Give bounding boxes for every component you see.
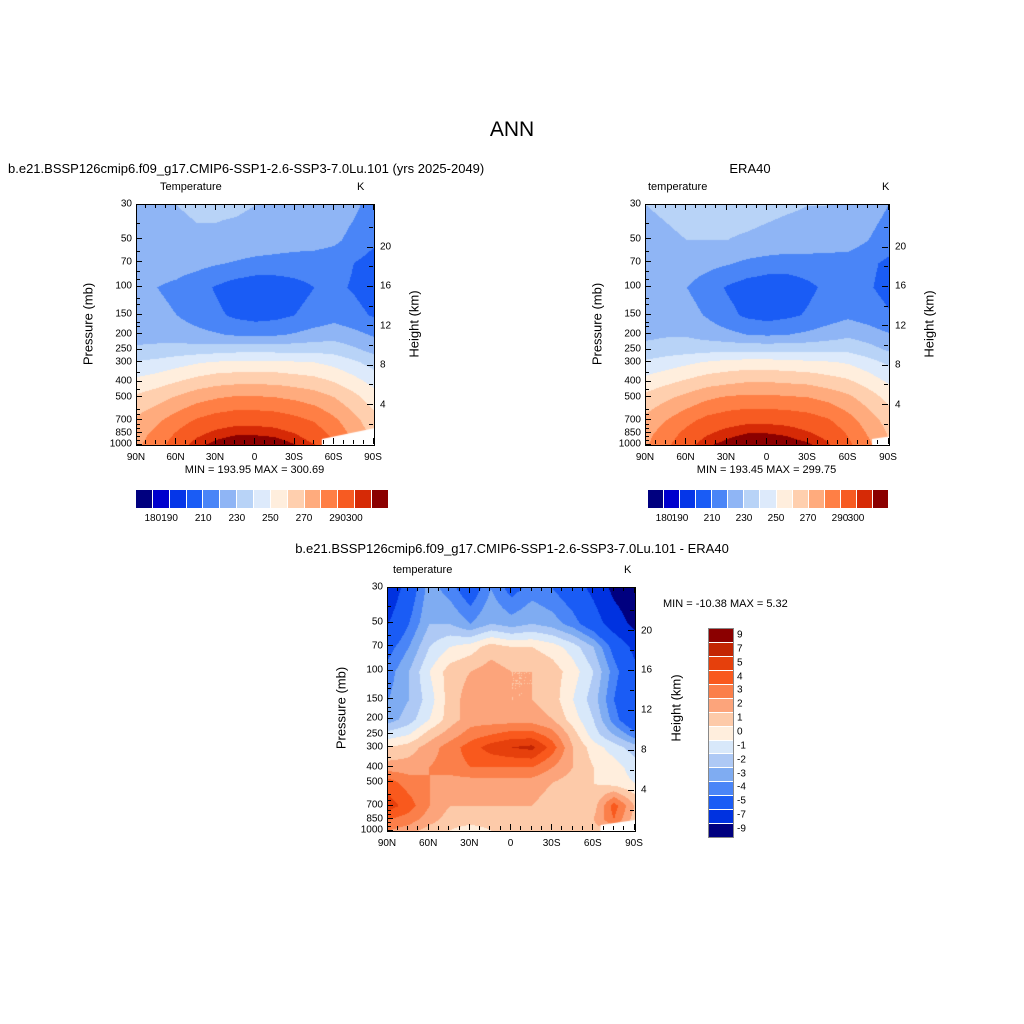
x-tickmark-minor-bottom xyxy=(274,440,275,444)
y-tick-label-30: 30 xyxy=(102,199,132,210)
y-tickmark-major xyxy=(387,830,393,831)
y-tickmark-major xyxy=(645,261,651,262)
y-tick-label-100: 100 xyxy=(102,281,132,292)
panel-obs-title: ERA40 xyxy=(650,161,850,176)
x-tickmark-minor-top xyxy=(274,204,275,208)
x-tickmark-minor-bottom xyxy=(323,440,324,444)
x-tickmark-major-bottom xyxy=(175,438,176,444)
x-tickmark-minor-top xyxy=(205,204,206,208)
y-tickmark-minor xyxy=(387,810,391,811)
y-tick-label-300: 300 xyxy=(102,356,132,367)
x-tick-label-90S: 90S xyxy=(353,452,393,463)
x-tick-label-60N: 60N xyxy=(666,452,706,463)
height-tick-label-12: 12 xyxy=(380,320,404,331)
height-tickmark-minor xyxy=(884,227,888,228)
y-tick-label-70: 70 xyxy=(353,640,383,651)
colorbar-swatch xyxy=(153,490,170,508)
y-tickmark-major xyxy=(645,333,651,334)
colorbar-swatch xyxy=(712,490,728,508)
colorbar-swatch xyxy=(709,754,733,768)
x-tickmark-minor-top xyxy=(313,204,314,208)
x-tickmark-minor-top xyxy=(234,204,235,208)
y-tickmark-minor xyxy=(387,683,391,684)
y-tickmark-major xyxy=(136,381,142,382)
y-tick-label-300: 300 xyxy=(611,356,641,367)
y-tick-label-250: 250 xyxy=(611,344,641,355)
colorbar-swatch xyxy=(857,490,873,508)
x-tickmark-minor-top xyxy=(715,204,716,208)
y-tickmark-major xyxy=(136,238,142,239)
x-tickmark-minor-top xyxy=(867,204,868,208)
y-tick-label-100: 100 xyxy=(611,281,641,292)
x-tickmark-minor-bottom xyxy=(827,440,828,444)
colorbar-swatch xyxy=(271,490,288,508)
height-tick-label-16: 16 xyxy=(641,665,665,676)
x-tickmark-major-top xyxy=(645,204,646,210)
x-tickmark-minor-top xyxy=(827,204,828,208)
y-tickmark-minor xyxy=(645,414,649,415)
colorbar-tick-label: -3 xyxy=(737,768,763,779)
x-tickmark-minor-top xyxy=(736,204,737,208)
y-tickmark-major xyxy=(645,349,651,350)
x-tick-label-60S: 60S xyxy=(573,838,613,849)
x-tickmark-minor-bottom xyxy=(786,440,787,444)
x-tickmark-minor-top xyxy=(155,204,156,208)
x-tickmark-major-top xyxy=(807,204,808,210)
y-tick-label-1000: 1000 xyxy=(611,439,641,450)
height-tickmark xyxy=(628,710,634,711)
height-tick-label-8: 8 xyxy=(641,745,665,756)
x-tickmark-major-bottom xyxy=(645,438,646,444)
x-tickmark-minor-bottom xyxy=(145,440,146,444)
height-tickmark xyxy=(628,790,634,791)
x-tickmark-minor-bottom xyxy=(837,440,838,444)
x-tickmark-minor-bottom xyxy=(561,826,562,830)
height-tickmark-minor xyxy=(884,384,888,385)
y-tickmark-major xyxy=(387,622,393,623)
x-tickmark-minor-top xyxy=(500,587,501,591)
x-tickmark-major-top xyxy=(726,204,727,210)
x-tickmark-minor-top xyxy=(623,587,624,591)
colorbar-swatch xyxy=(664,490,680,508)
x-tickmark-major-bottom xyxy=(428,824,429,830)
colorbar-tick-label: -4 xyxy=(737,782,763,793)
x-tickmark-minor-bottom xyxy=(438,826,439,830)
y-tickmark-major xyxy=(387,670,393,671)
y-tickmark-minor xyxy=(645,428,649,429)
y-tick-label-250: 250 xyxy=(102,344,132,355)
x-tickmark-minor-bottom xyxy=(715,440,716,444)
x-tick-label-30N: 30N xyxy=(449,838,489,849)
colorbar-tick-label: 3 xyxy=(737,685,763,696)
y-tickmark-minor xyxy=(387,654,391,655)
height-tick-label-16: 16 xyxy=(380,281,404,292)
y-tick-label-500: 500 xyxy=(611,391,641,402)
x-tickmark-minor-top xyxy=(817,204,818,208)
x-tickmark-minor-bottom xyxy=(479,826,480,830)
x-tickmark-major-bottom xyxy=(888,438,889,444)
height-tickmark xyxy=(882,365,888,366)
y-tickmark-major xyxy=(136,261,142,262)
x-tickmark-minor-bottom xyxy=(284,440,285,444)
y-tick-label-250: 250 xyxy=(353,728,383,739)
x-tickmark-minor-top xyxy=(786,204,787,208)
x-tickmark-minor-bottom xyxy=(603,826,604,830)
y-tickmark-major xyxy=(387,733,393,734)
x-tick-label-60S: 60S xyxy=(314,452,354,463)
colorbar-swatch xyxy=(709,782,733,796)
y-tickmark-major xyxy=(645,396,651,397)
x-tickmark-minor-bottom xyxy=(205,440,206,444)
y-tickmark-minor xyxy=(136,424,140,425)
height-tickmark-minor xyxy=(369,384,373,385)
x-tickmark-major-top xyxy=(469,587,470,593)
y-tickmark-major xyxy=(387,766,393,767)
height-tick-label-4: 4 xyxy=(895,399,919,410)
y-tickmark-major xyxy=(645,444,651,445)
y-tickmark-major xyxy=(387,746,393,747)
x-tickmark-minor-top xyxy=(145,204,146,208)
x-tickmark-minor-bottom xyxy=(541,826,542,830)
y-tickmark-major xyxy=(387,698,393,699)
height-tickmark xyxy=(367,365,373,366)
x-tickmark-major-bottom xyxy=(634,824,635,830)
x-tickmark-major-bottom xyxy=(215,438,216,444)
height-tickmark xyxy=(367,404,373,405)
colorbar-swatch xyxy=(338,490,355,508)
height-tickmark-minor xyxy=(369,424,373,425)
colorbar-swatch xyxy=(355,490,372,508)
x-tickmark-minor-bottom xyxy=(877,440,878,444)
y-tickmark-minor xyxy=(136,251,140,252)
y-tickmark-major xyxy=(136,396,142,397)
colorbar-swatch xyxy=(680,490,696,508)
colorbar-swatch xyxy=(709,810,733,824)
y-tickmark-minor xyxy=(136,223,140,224)
x-tickmark-minor-top xyxy=(165,204,166,208)
height-tick-label-20: 20 xyxy=(380,242,404,253)
panel-model-units-label: K xyxy=(357,181,364,193)
x-tick-label-30S: 30S xyxy=(274,452,314,463)
panel-model-contour-canvas xyxy=(137,205,374,445)
panel-diff-units-label: K xyxy=(624,564,631,576)
panel-model-plot[interactable] xyxy=(136,204,375,446)
x-tickmark-minor-bottom xyxy=(695,440,696,444)
y-tickmark-minor xyxy=(387,794,391,795)
x-tickmark-minor-bottom xyxy=(736,440,737,444)
height-tick-label-20: 20 xyxy=(895,242,919,253)
height-tickmark-minor xyxy=(630,650,634,651)
colorbar-swatch xyxy=(841,490,857,508)
x-tickmark-minor-top xyxy=(489,587,490,591)
y-tickmark-minor xyxy=(136,440,140,441)
y-tick-label-850: 850 xyxy=(102,427,132,438)
colorbar-swatch xyxy=(648,490,664,508)
x-tickmark-major-top xyxy=(766,204,767,210)
colorbar-tick-label: -9 xyxy=(737,824,763,835)
y-tickmark-minor xyxy=(387,711,391,712)
x-tickmark-minor-top xyxy=(417,587,418,591)
colorbar-tick-label: 300 xyxy=(836,513,876,524)
y-tick-label-200: 200 xyxy=(611,328,641,339)
x-tickmark-major-top xyxy=(685,204,686,210)
y-tick-label-500: 500 xyxy=(102,391,132,402)
y-tickmark-major xyxy=(136,432,142,433)
page-title: ANN xyxy=(0,118,1024,142)
y-tickmark-major xyxy=(387,718,393,719)
x-tickmark-minor-bottom xyxy=(363,440,364,444)
y-tick-label-300: 300 xyxy=(353,741,383,752)
colorbar-swatch xyxy=(709,685,733,699)
x-tickmark-minor-top xyxy=(303,204,304,208)
colorbar-swatch xyxy=(170,490,187,508)
x-tickmark-minor-top xyxy=(438,587,439,591)
x-tickmark-minor-bottom xyxy=(165,440,166,444)
x-tickmark-minor-top xyxy=(665,204,666,208)
x-tickmark-major-top xyxy=(373,204,374,210)
y-tick-label-30: 30 xyxy=(353,582,383,593)
x-tickmark-minor-bottom xyxy=(234,440,235,444)
y-tickmark-major xyxy=(136,361,142,362)
x-tickmark-minor-bottom xyxy=(459,826,460,830)
panel-diff-ylabel-right: Height (km) xyxy=(669,674,684,741)
height-tickmark xyxy=(367,247,373,248)
colorbar-tick-label: 9 xyxy=(737,629,763,640)
y-tickmark-minor xyxy=(387,800,391,801)
colorbar-difference[interactable] xyxy=(708,628,734,838)
colorbar-swatch xyxy=(305,490,322,508)
x-tickmark-minor-top xyxy=(603,587,604,591)
y-tickmark-minor xyxy=(136,372,140,373)
colorbar-absolute-obs[interactable] xyxy=(648,490,888,508)
height-tickmark xyxy=(882,247,888,248)
colorbar-tick-label: 5 xyxy=(737,657,763,668)
y-tickmark-minor xyxy=(645,372,649,373)
x-tickmark-minor-bottom xyxy=(582,826,583,830)
panel-model-var-label: Temperature xyxy=(160,181,222,193)
height-tick-label-20: 20 xyxy=(641,625,665,636)
x-tickmark-minor-top xyxy=(837,204,838,208)
x-tick-label-60S: 60S xyxy=(828,452,868,463)
x-tickmark-minor-top xyxy=(185,204,186,208)
colorbar-swatch xyxy=(709,671,733,685)
panel-obs-var-label: temperature xyxy=(648,181,707,193)
x-tickmark-major-top xyxy=(254,204,255,210)
y-tickmark-major xyxy=(136,286,142,287)
x-tickmark-major-top xyxy=(634,587,635,593)
y-tickmark-minor xyxy=(645,424,649,425)
y-tick-label-70: 70 xyxy=(611,256,641,267)
x-tick-label-60N: 60N xyxy=(408,838,448,849)
colorbar-swatch xyxy=(187,490,204,508)
x-tickmark-major-bottom xyxy=(469,824,470,830)
x-tickmark-major-bottom xyxy=(254,438,255,444)
y-tickmark-minor xyxy=(387,635,391,636)
colorbar-tick-label: 300 xyxy=(334,513,374,524)
x-tickmark-minor-bottom xyxy=(857,440,858,444)
x-tickmark-minor-bottom xyxy=(155,440,156,444)
x-tickmark-minor-bottom xyxy=(407,826,408,830)
colorbar-swatch xyxy=(709,768,733,782)
y-tickmark-major xyxy=(645,314,651,315)
x-tickmark-minor-bottom xyxy=(655,440,656,444)
x-tickmark-major-top xyxy=(428,587,429,593)
y-tickmark-minor xyxy=(645,279,649,280)
colorbar-swatch xyxy=(709,629,733,643)
x-tickmark-major-bottom xyxy=(387,824,388,830)
x-tickmark-minor-bottom xyxy=(489,826,490,830)
y-tickmark-minor xyxy=(387,688,391,689)
y-tickmark-minor xyxy=(645,322,649,323)
x-tickmark-minor-top xyxy=(343,204,344,208)
colorbar-swatch xyxy=(136,490,153,508)
x-tick-label-30S: 30S xyxy=(787,452,827,463)
colorbar-swatch xyxy=(321,490,338,508)
colorbar-swatch xyxy=(709,796,733,810)
height-tickmark xyxy=(628,750,634,751)
x-tickmark-major-top xyxy=(136,204,137,210)
colorbar-tick-label: 4 xyxy=(737,671,763,682)
height-tickmark-minor xyxy=(884,306,888,307)
y-tick-label-700: 700 xyxy=(353,800,383,811)
height-tickmark-minor xyxy=(630,690,634,691)
y-tick-label-1000: 1000 xyxy=(353,825,383,836)
y-tick-label-30: 30 xyxy=(611,199,641,210)
x-tickmark-minor-bottom xyxy=(224,440,225,444)
y-tickmark-major xyxy=(387,805,393,806)
x-tickmark-major-top xyxy=(888,204,889,210)
height-tick-label-12: 12 xyxy=(641,705,665,716)
colorbar-swatch xyxy=(709,699,733,713)
height-tick-label-16: 16 xyxy=(895,281,919,292)
y-tickmark-minor xyxy=(387,822,391,823)
x-tick-label-90S: 90S xyxy=(614,838,654,849)
y-tick-label-850: 850 xyxy=(611,427,641,438)
y-tickmark-minor xyxy=(645,271,649,272)
x-tick-label-0: 0 xyxy=(235,452,275,463)
colorbar-absolute-model[interactable] xyxy=(136,490,388,508)
y-tickmark-minor xyxy=(645,251,649,252)
colorbar-tick-label: -7 xyxy=(737,810,763,821)
y-tickmark-major xyxy=(645,432,651,433)
x-tickmark-major-bottom xyxy=(726,438,727,444)
x-tickmark-major-bottom xyxy=(510,824,511,830)
y-tick-label-700: 700 xyxy=(611,414,641,425)
x-tickmark-minor-bottom xyxy=(572,826,573,830)
height-tickmark xyxy=(628,630,634,631)
y-tickmark-minor xyxy=(387,606,391,607)
y-tick-label-150: 150 xyxy=(353,693,383,704)
y-tick-label-150: 150 xyxy=(611,309,641,320)
x-tickmark-minor-top xyxy=(479,587,480,591)
x-tickmark-minor-bottom xyxy=(796,440,797,444)
x-tickmark-major-bottom xyxy=(847,438,848,444)
x-tickmark-minor-top xyxy=(776,204,777,208)
height-tickmark-minor xyxy=(369,227,373,228)
y-tickmark-minor xyxy=(136,409,140,410)
height-tick-label-8: 8 xyxy=(380,360,404,371)
x-tickmark-minor-top xyxy=(857,204,858,208)
x-tickmark-major-top xyxy=(333,204,334,210)
colorbar-swatch xyxy=(728,490,744,508)
colorbar-swatch xyxy=(288,490,305,508)
x-tickmark-minor-bottom xyxy=(417,826,418,830)
y-tickmark-major xyxy=(387,781,393,782)
x-tickmark-major-top xyxy=(510,587,511,593)
x-tickmark-minor-top xyxy=(675,204,676,208)
panel-diff-stats: MIN = -10.38 MAX = 5.32 xyxy=(663,598,788,610)
panel-diff-plot[interactable] xyxy=(387,587,636,832)
x-tickmark-minor-bottom xyxy=(264,440,265,444)
colorbar-tick-label: 7 xyxy=(737,643,763,654)
colorbar-swatch xyxy=(220,490,237,508)
colorbar-swatch xyxy=(709,657,733,671)
x-tick-label-90S: 90S xyxy=(868,452,908,463)
y-tickmark-major xyxy=(387,645,393,646)
x-tickmark-minor-bottom xyxy=(746,440,747,444)
y-tickmark-minor xyxy=(387,663,391,664)
x-tickmark-minor-top xyxy=(613,587,614,591)
x-tickmark-minor-bottom xyxy=(343,440,344,444)
x-tickmark-major-bottom xyxy=(373,438,374,444)
panel-obs-stats: MIN = 193.45 MAX = 299.75 xyxy=(645,464,888,476)
y-tickmark-minor xyxy=(136,326,140,327)
x-tickmark-minor-top xyxy=(323,204,324,208)
y-tickmark-minor xyxy=(387,826,391,827)
colorbar-tick-label: 0 xyxy=(737,727,763,738)
colorbar-swatch xyxy=(372,490,388,508)
height-tickmark-minor xyxy=(630,730,634,731)
x-tickmark-major-bottom xyxy=(551,824,552,830)
height-tickmark-minor xyxy=(884,345,888,346)
x-tickmark-minor-top xyxy=(877,204,878,208)
x-tick-label-0: 0 xyxy=(491,838,531,849)
panel-obs-units-label: K xyxy=(882,181,889,193)
x-tick-label-90N: 90N xyxy=(625,452,665,463)
x-tickmark-major-top xyxy=(592,587,593,593)
colorbar-swatch xyxy=(809,490,825,508)
y-tick-label-400: 400 xyxy=(611,376,641,387)
x-tickmark-minor-top xyxy=(353,204,354,208)
x-tickmark-minor-top xyxy=(572,587,573,591)
y-tick-label-50: 50 xyxy=(353,617,383,628)
x-tickmark-minor-top xyxy=(655,204,656,208)
y-tick-label-400: 400 xyxy=(353,761,383,772)
y-tickmark-major xyxy=(136,419,142,420)
panel-model-ylabel-right: Height (km) xyxy=(407,290,422,357)
y-tickmark-minor xyxy=(645,223,649,224)
y-tick-label-50: 50 xyxy=(102,233,132,244)
colorbar-swatch xyxy=(873,490,888,508)
y-tickmark-major xyxy=(645,204,651,205)
height-tickmark xyxy=(628,670,634,671)
y-tickmark-major xyxy=(645,238,651,239)
panel-diff-title: b.e21.BSSP126cmip6.f09_g17.CMIP6-SSP1-2.… xyxy=(212,541,812,556)
y-tickmark-minor xyxy=(136,279,140,280)
y-tickmark-minor xyxy=(645,304,649,305)
y-tickmark-minor xyxy=(136,298,140,299)
x-tickmark-minor-top xyxy=(244,204,245,208)
x-tickmark-minor-bottom xyxy=(776,440,777,444)
x-tickmark-minor-bottom xyxy=(665,440,666,444)
x-tickmark-minor-top xyxy=(448,587,449,591)
colorbar-swatch xyxy=(696,490,712,508)
x-tick-label-60N: 60N xyxy=(156,452,196,463)
y-tickmark-minor xyxy=(387,707,391,708)
x-tickmark-minor-bottom xyxy=(520,826,521,830)
x-tickmark-minor-top xyxy=(746,204,747,208)
panel-obs-plot[interactable] xyxy=(645,204,890,446)
